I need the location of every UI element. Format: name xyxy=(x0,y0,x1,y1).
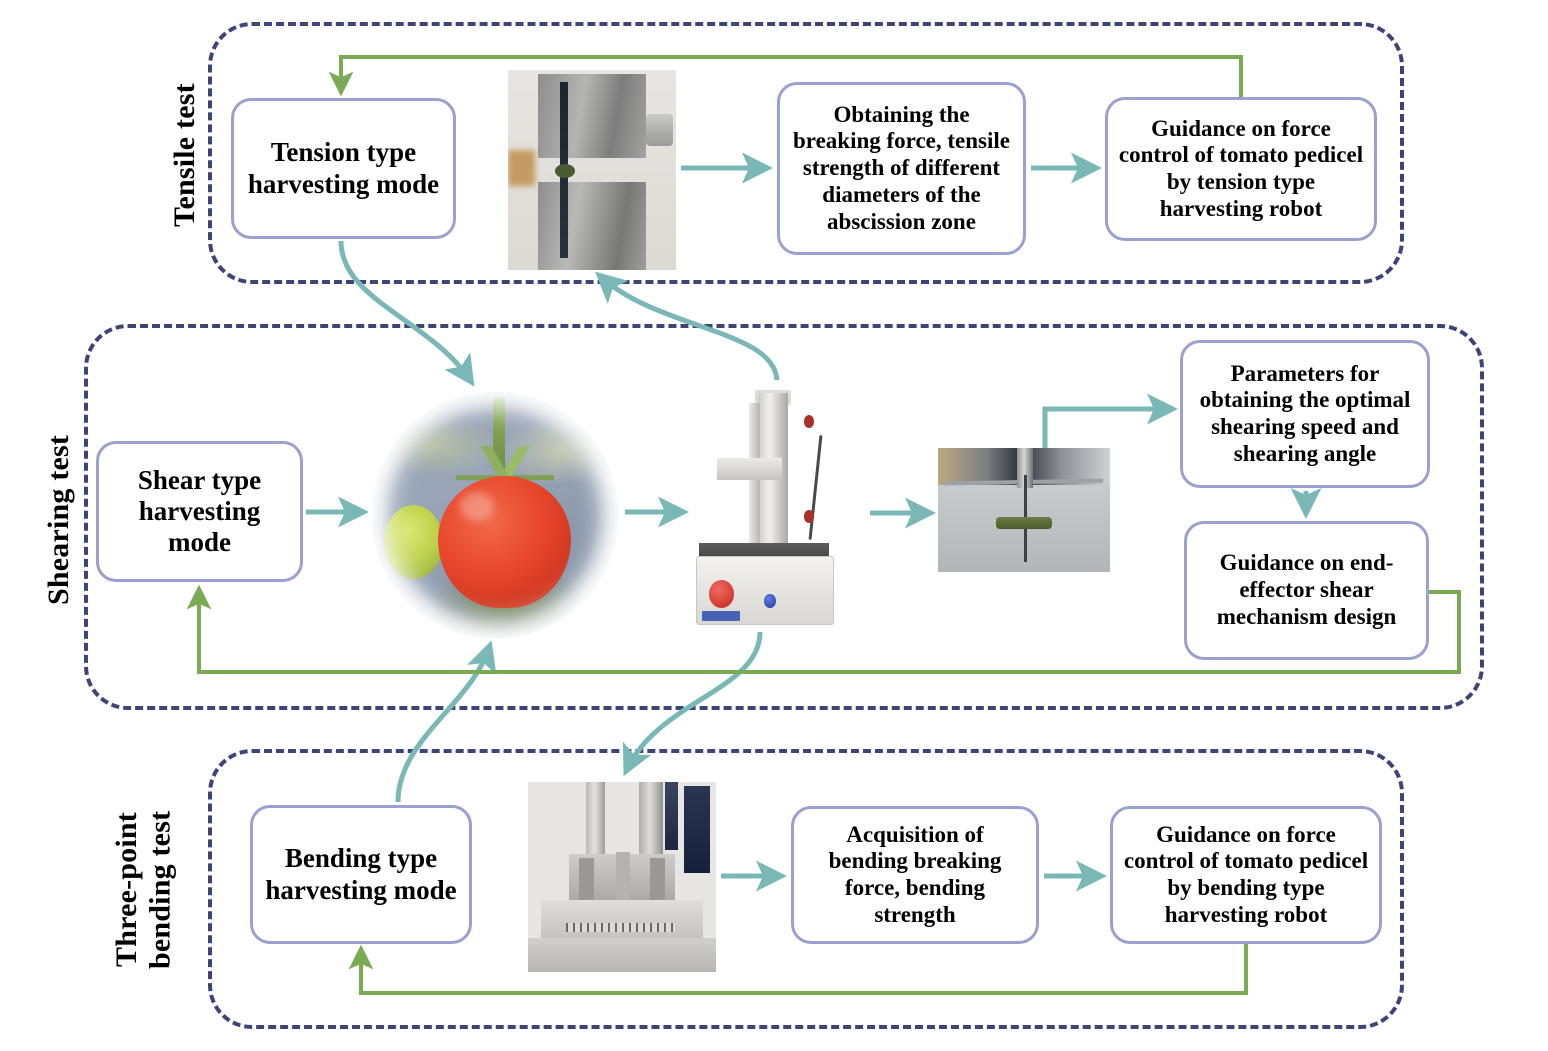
three-point-bending-fixture-photo xyxy=(528,782,716,972)
box-bending-guidance[interactable]: Guidance on force control of tomato pedi… xyxy=(1110,806,1382,944)
box-bending-harvesting-mode[interactable]: Bending type harvesting mode xyxy=(250,805,472,944)
texture-analyzer-photo xyxy=(690,380,838,630)
box-shear-guidance[interactable]: Guidance on end-effector shear mechanism… xyxy=(1184,521,1429,660)
box-tensile-results[interactable]: Obtaining the breaking force, tensile st… xyxy=(777,82,1026,255)
box-tensile-guidance[interactable]: Guidance on force control of tomato pedi… xyxy=(1105,97,1377,241)
tomato-on-vine-photo xyxy=(372,392,618,638)
box-shear-parameters[interactable]: Parameters for obtaining the optimal she… xyxy=(1180,340,1430,488)
tensile-clamp-photo xyxy=(508,70,676,270)
shearing-blade-pedicel-photo xyxy=(938,448,1110,572)
box-shear-harvesting-mode[interactable]: Shear type harvesting mode xyxy=(96,441,303,582)
box-tension-harvesting-mode[interactable]: Tension type harvesting mode xyxy=(231,98,456,239)
box-bending-results[interactable]: Acquisition of bending breaking force, b… xyxy=(791,806,1039,944)
diagram-canvas: Tensile test Shearing test Three-point b… xyxy=(0,0,1548,1051)
